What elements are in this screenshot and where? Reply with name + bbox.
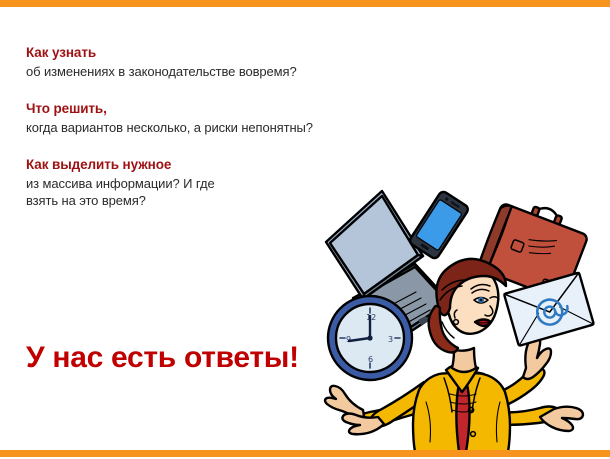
question-list: Как узнать об изменениях в законодательс… xyxy=(26,44,356,229)
question-heading-3: Как выделить нужное xyxy=(26,156,356,173)
question-body-3-line-2: взять на это время? xyxy=(26,192,356,209)
wall-clock-icon: 12 3 6 9 xyxy=(328,296,412,380)
question-heading-2: Что решить, xyxy=(26,100,356,117)
question-body-3-line-1: из массива информации? И где xyxy=(26,175,356,192)
headline-answer: У нас есть ответы! xyxy=(26,340,299,376)
question-body-1: об изменениях в законодательстве вовремя… xyxy=(26,63,356,80)
question-block-3: Как выделить нужное из массива информаци… xyxy=(26,156,356,209)
question-block-1: Как узнать об изменениях в законодательс… xyxy=(26,44,356,80)
question-heading-1: Как узнать xyxy=(26,44,356,61)
bottom-accent-bar xyxy=(0,450,610,457)
question-body-2: когда вариантов несколько, а риски непон… xyxy=(26,119,356,136)
question-block-2: Что решить, когда вариантов несколько, а… xyxy=(26,100,356,136)
top-accent-bar xyxy=(0,0,610,7)
svg-text:9: 9 xyxy=(346,335,351,344)
juggling-woman-illustration: .ol { stroke:#000; stroke-width:2.4; str… xyxy=(320,186,610,454)
svg-text:3: 3 xyxy=(388,335,393,344)
svg-text:6: 6 xyxy=(368,355,373,364)
slide-canvas: Как узнать об изменениях в законодательс… xyxy=(0,0,610,459)
